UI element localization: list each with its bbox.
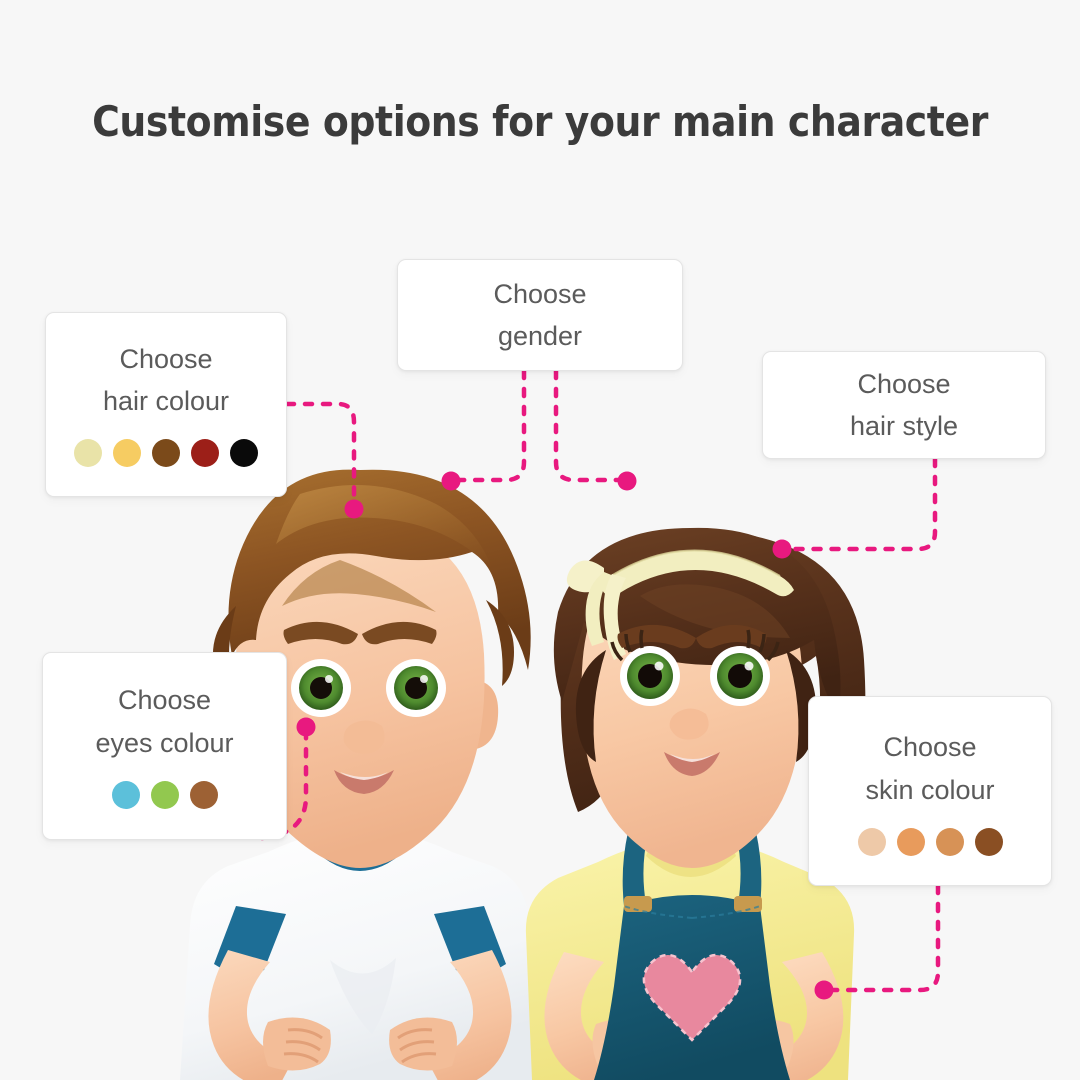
swatch-skin-medium-tan[interactable]	[897, 828, 925, 856]
swatch-eyes-brown[interactable]	[190, 781, 218, 809]
swatch-skin-light[interactable]	[858, 828, 886, 856]
character-illustration	[0, 0, 1080, 1080]
canvas: Customise options for your main characte…	[0, 0, 1080, 1080]
swatch-group-eyes-colour	[112, 781, 218, 809]
swatch-hair-black[interactable]	[230, 439, 258, 467]
swatch-skin-tan[interactable]	[936, 828, 964, 856]
boy-eye-left	[291, 659, 351, 717]
swatch-skin-dark-brown[interactable]	[975, 828, 1003, 856]
swatch-hair-brown[interactable]	[152, 439, 180, 467]
swatch-hair-blonde-pale[interactable]	[74, 439, 102, 467]
card-label-hair-style: Choose hair style	[850, 363, 958, 447]
swatch-hair-auburn-red[interactable]	[191, 439, 219, 467]
callout-card-hair-style[interactable]: Choose hair style	[762, 351, 1046, 459]
boy-hand-right	[389, 1018, 457, 1071]
card-label-eyes-colour: Choose eyes colour	[95, 679, 233, 763]
card-label-gender: Choose gender	[493, 273, 586, 357]
callout-card-eyes-colour[interactable]: Choose eyes colour	[42, 652, 287, 840]
card-label-skin-colour: Choose skin colour	[865, 726, 994, 810]
callout-card-gender[interactable]: Choose gender	[397, 259, 683, 371]
swatch-group-skin-colour	[858, 828, 1003, 856]
card-label-hair-colour: Choose hair colour	[103, 338, 229, 422]
boy-eye-right	[386, 659, 446, 717]
swatch-eyes-blue[interactable]	[112, 781, 140, 809]
callout-card-hair-colour[interactable]: Choose hair colour	[45, 312, 287, 497]
swatch-hair-blonde-gold[interactable]	[113, 439, 141, 467]
boy-hand-left	[263, 1018, 331, 1071]
swatch-group-hair-colour	[74, 439, 258, 467]
swatch-eyes-green[interactable]	[151, 781, 179, 809]
callout-card-skin-colour[interactable]: Choose skin colour	[808, 696, 1052, 886]
